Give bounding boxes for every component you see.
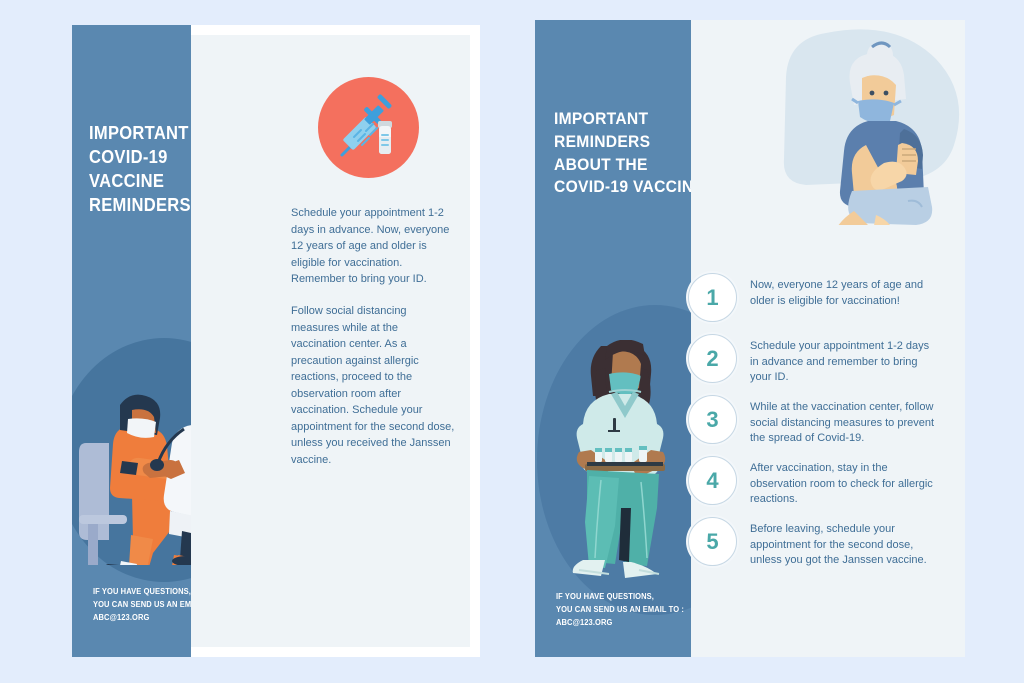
step-number-badge: 3 xyxy=(688,395,737,444)
step-number-badge: 2 xyxy=(688,334,737,383)
heading-line: COVID-19 VACCINE xyxy=(554,176,691,199)
heading-line: ABOUT THE xyxy=(554,154,691,177)
left-poster: IMPORTANT COVID-19 VACCINE REMINDERS IF … xyxy=(72,25,480,657)
step-description: Before leaving, schedule your appointmen… xyxy=(750,517,935,569)
step-description: Schedule your appointment 1-2 days in ad… xyxy=(750,334,935,386)
footer-line: ABC@123.ORG xyxy=(93,611,191,624)
left-poster-footer: IF YOU HAVE QUESTIONS, YOU CAN SEND US A… xyxy=(93,585,191,625)
reminder-step[interactable]: 1 Now, everyone 12 years of age and olde… xyxy=(688,273,935,322)
footer-line: IF YOU HAVE QUESTIONS, xyxy=(93,585,191,598)
heading-line: VACCINE xyxy=(89,169,191,193)
footer-line: YOU CAN SEND US AN EMAIL TO : xyxy=(93,598,191,611)
left-poster-body-copy: Schedule your appointment 1-2 days in ad… xyxy=(291,205,455,468)
right-poster-blue-column: IMPORTANT REMINDERS ABOUT THE COVID-19 V… xyxy=(535,20,691,657)
heading-line: COVID-19 xyxy=(89,145,191,169)
right-poster-footer: IF YOU HAVE QUESTIONS, YOU CAN SEND US A… xyxy=(556,590,684,630)
heading-line: REMINDERS xyxy=(554,131,691,154)
step-number-badge: 1 xyxy=(688,273,737,322)
doctor-examining-seated-patient-illustration xyxy=(74,365,191,565)
reminder-step[interactable]: 5 Before leaving, schedule your appointm… xyxy=(688,517,935,569)
step-number: 4 xyxy=(706,468,718,494)
body-paragraph: Schedule your appointment 1-2 days in ad… xyxy=(291,205,455,288)
reminder-step[interactable]: 3 While at the vaccination center, follo… xyxy=(688,395,935,447)
reminder-steps-list: 1 Now, everyone 12 years of age and olde… xyxy=(691,273,965,593)
right-poster-heading: IMPORTANT REMINDERS ABOUT THE COVID-19 V… xyxy=(554,108,691,199)
seated-elderly-person-vaccinated-illustration xyxy=(780,25,965,225)
heading-line: IMPORTANT xyxy=(554,108,691,131)
body-paragraph: Follow social distancing measures while … xyxy=(291,303,455,468)
heading-line: IMPORTANT xyxy=(89,121,191,145)
syringe-vaccine-icon xyxy=(334,93,404,163)
footer-line: YOU CAN SEND US AN EMAIL TO : xyxy=(556,603,684,616)
step-description: Now, everyone 12 years of age and older … xyxy=(750,273,935,309)
heading-line: REMINDERS xyxy=(89,193,191,217)
footer-line: ABC@123.ORG xyxy=(556,616,684,629)
step-description: While at the vaccination center, follow … xyxy=(750,395,935,447)
step-number: 1 xyxy=(706,285,718,311)
step-number-badge: 4 xyxy=(688,456,737,505)
left-poster-blue-column: IMPORTANT COVID-19 VACCINE REMINDERS IF … xyxy=(72,25,191,657)
step-number: 5 xyxy=(706,529,718,555)
step-description: After vaccination, stay in the observati… xyxy=(750,456,935,508)
right-poster: IMPORTANT REMINDERS ABOUT THE COVID-19 V… xyxy=(535,20,965,657)
step-number-badge: 5 xyxy=(688,517,737,566)
step-number: 3 xyxy=(706,407,718,433)
reminder-step[interactable]: 2 Schedule your appointment 1-2 days in … xyxy=(688,334,935,386)
poster-canvas: IMPORTANT COVID-19 VACCINE REMINDERS IF … xyxy=(0,0,1024,683)
left-poster-heading: IMPORTANT COVID-19 VACCINE REMINDERS xyxy=(89,121,191,217)
reminder-step[interactable]: 4 After vaccination, stay in the observa… xyxy=(688,456,935,508)
syringe-vaccine-icon-badge xyxy=(318,77,419,178)
step-number: 2 xyxy=(706,346,718,372)
footer-line: IF YOU HAVE QUESTIONS, xyxy=(556,590,684,603)
nurse-carrying-vaccine-tray-illustration xyxy=(553,340,691,590)
